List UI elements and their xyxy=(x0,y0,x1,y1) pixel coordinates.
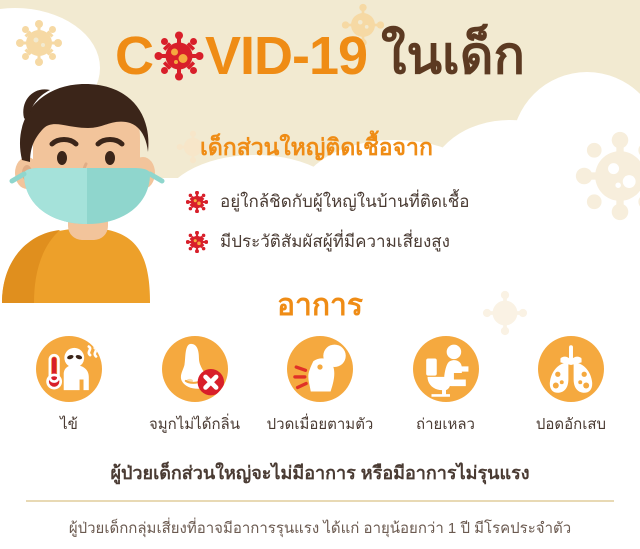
symptom-item-diarrhea: ถ่ายเหลว xyxy=(387,336,505,436)
transmission-section-title: เด็กส่วนใหญ่ติดเชื้อจาก xyxy=(200,130,433,166)
symptom-item-pneumonia: ปอดอักเสบ xyxy=(512,336,630,436)
nose-no-smell-icon xyxy=(162,336,228,402)
infographic-poster: C xyxy=(0,0,640,549)
symptom-item-fever: ไข้ xyxy=(10,336,128,436)
virus-icon xyxy=(154,31,204,81)
symptom-label-pneumonia: ปอดอักเสบ xyxy=(536,412,606,436)
symptom-item-body-ache: ปวดเมื่อยตามตัว xyxy=(261,336,379,436)
symptom-label-fever: ไข้ xyxy=(60,412,78,436)
virus-watermark-right-large xyxy=(574,130,640,222)
lungs-pneumonia-icon xyxy=(538,336,604,402)
footer-note-sub: ผู้ป่วยเด็กกลุ่มเสี่ยงที่อาจมีอาการรุนแร… xyxy=(0,516,640,540)
symptom-item-no-smell: จมูกไม่ได้กลิ่น xyxy=(136,336,254,436)
symptoms-section-title: อาการ xyxy=(0,282,640,329)
transmission-bullet-1: อยู่ใกล้ชิดกับผู้ใหญ่ในบ้านที่ติดเชื้อ xyxy=(186,188,470,215)
body-ache-icon xyxy=(287,336,353,402)
boy-wearing-mask-illustration xyxy=(0,78,175,303)
title-covid-text: C xyxy=(115,29,367,83)
footer-divider xyxy=(26,500,614,502)
fever-thermometer-icon xyxy=(36,336,102,402)
virus-icon xyxy=(186,231,208,253)
title-covid-rest: VID-19 xyxy=(205,29,367,83)
footer-note-main: ผู้ป่วยเด็กส่วนใหญ่จะไม่มีอาการ หรือมีอา… xyxy=(0,458,640,487)
transmission-bullet-2: มีประวัติสัมผัสผู้ที่มีความเสี่ยงสูง xyxy=(186,228,450,255)
title-thai-text: ในเด็ก xyxy=(381,30,525,82)
symptom-label-diarrhea: ถ่ายเหลว xyxy=(416,412,475,436)
transmission-bullet-1-text: อยู่ใกล้ชิดกับผู้ใหญ่ในบ้านที่ติดเชื้อ xyxy=(220,188,470,215)
virus-icon xyxy=(186,191,208,213)
transmission-bullet-2-text: มีประวัติสัมผัสผู้ที่มีความเสี่ยงสูง xyxy=(220,228,450,255)
symptom-label-no-smell: จมูกไม่ได้กลิ่น xyxy=(149,412,240,436)
symptom-label-body-ache: ปวดเมื่อยตามตัว xyxy=(267,412,374,436)
title-letter-c: C xyxy=(115,29,153,83)
symptoms-list: ไข้ จมูกไม่ได้กลิ่น xyxy=(10,336,630,436)
toilet-diarrhea-icon xyxy=(413,336,479,402)
